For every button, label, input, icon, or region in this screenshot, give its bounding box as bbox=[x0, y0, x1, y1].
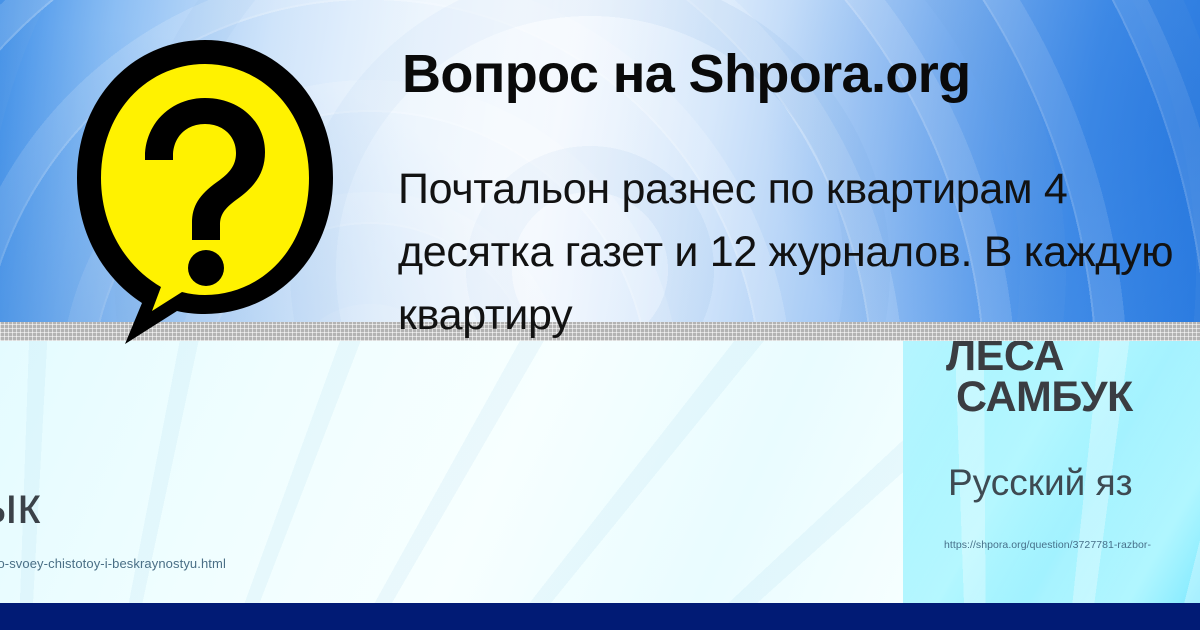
background-card-left-subtitle: зык bbox=[0, 480, 40, 532]
question-body-text: Почтальон разнес по квартирам 4 десятка … bbox=[398, 158, 1198, 340]
background-card-right-subtitle: Русский яз bbox=[948, 464, 1133, 501]
background-card-right-url[interactable]: https://shpora.org/question/3727781-razb… bbox=[944, 539, 1151, 551]
background-card-right-title: ЛЕСА САМБУК bbox=[946, 336, 1133, 419]
page-title: Вопрос на Shpora.org bbox=[402, 45, 971, 103]
question-speech-bubble-icon bbox=[55, 18, 355, 348]
screenshot-stage: КА зык slova-po-chlenam-predlozheniya-vy… bbox=[0, 0, 1200, 630]
question-mark-dot bbox=[188, 250, 224, 286]
background-card-right-title-line2: САМБУК bbox=[956, 377, 1133, 418]
background-card-right-footer-bar bbox=[935, 603, 1200, 630]
background-card-left-url[interactable]: slova-po-chlenam-predlozheniya-vysokoe-n… bbox=[0, 556, 226, 571]
